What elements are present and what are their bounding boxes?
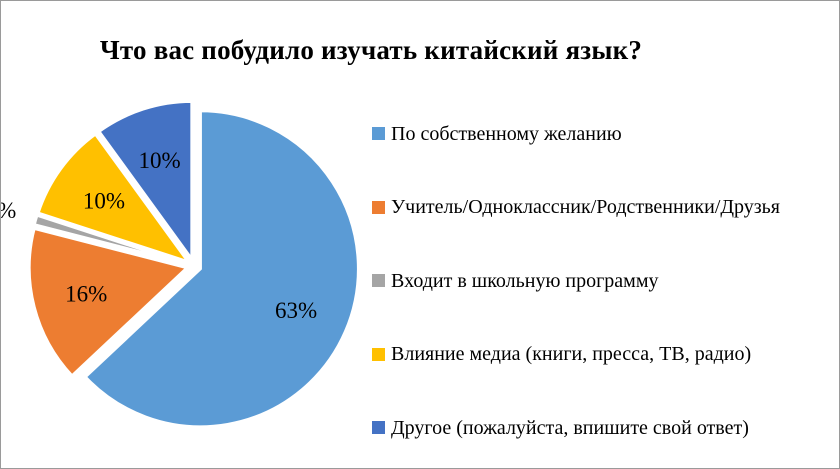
legend-item-label: Другое (пожалуйста, впишите свой ответ) <box>391 418 749 438</box>
pie-slices-group <box>29 101 358 426</box>
legend-item[interactable]: Влияние медиа (книги, пресса, ТВ, радио) <box>372 318 838 392</box>
legend-item[interactable]: Входит в школьную программу <box>372 244 838 318</box>
legend-swatch-icon <box>372 348 385 361</box>
legend-item[interactable]: Другое (пожалуйста, впишите свой ответ) <box>372 391 838 465</box>
chart-title: Что вас побудило изучать китайский язык? <box>1 35 741 66</box>
legend-swatch-icon <box>372 421 385 434</box>
legend-item-label: Входит в школьную программу <box>391 271 658 291</box>
legend-swatch-icon <box>372 274 385 287</box>
legend-swatch-icon <box>372 201 385 214</box>
pie-plot-area: 63%16%1%10%10% <box>1 79 381 459</box>
pie-slice-value-label: 1% <box>1 198 16 223</box>
legend-swatch-icon <box>372 127 385 140</box>
legend-item[interactable]: Учитель/Одноклассник/Родственники/Друзья <box>372 171 838 245</box>
pie-svg: 63%16%1%10%10% <box>1 79 381 459</box>
legend-item[interactable]: По собственному желанию <box>372 97 838 171</box>
chart-legend: По собственному желанию Учитель/Одноклас… <box>372 97 838 465</box>
legend-item-label: По собственному желанию <box>391 124 622 144</box>
pie-slice-value-label: 10% <box>139 148 181 173</box>
pie-slice-value-label: 10% <box>83 189 125 214</box>
pie-slice-value-label: 63% <box>275 298 317 323</box>
legend-item-label: Учитель/Одноклассник/Родственники/Друзья <box>391 197 780 217</box>
pie-slice-value-label: 16% <box>65 282 107 307</box>
legend-item-label: Влияние медиа (книги, пресса, ТВ, радио) <box>391 344 751 364</box>
pie-chart-figure: Что вас побудило изучать китайский язык?… <box>0 0 840 469</box>
